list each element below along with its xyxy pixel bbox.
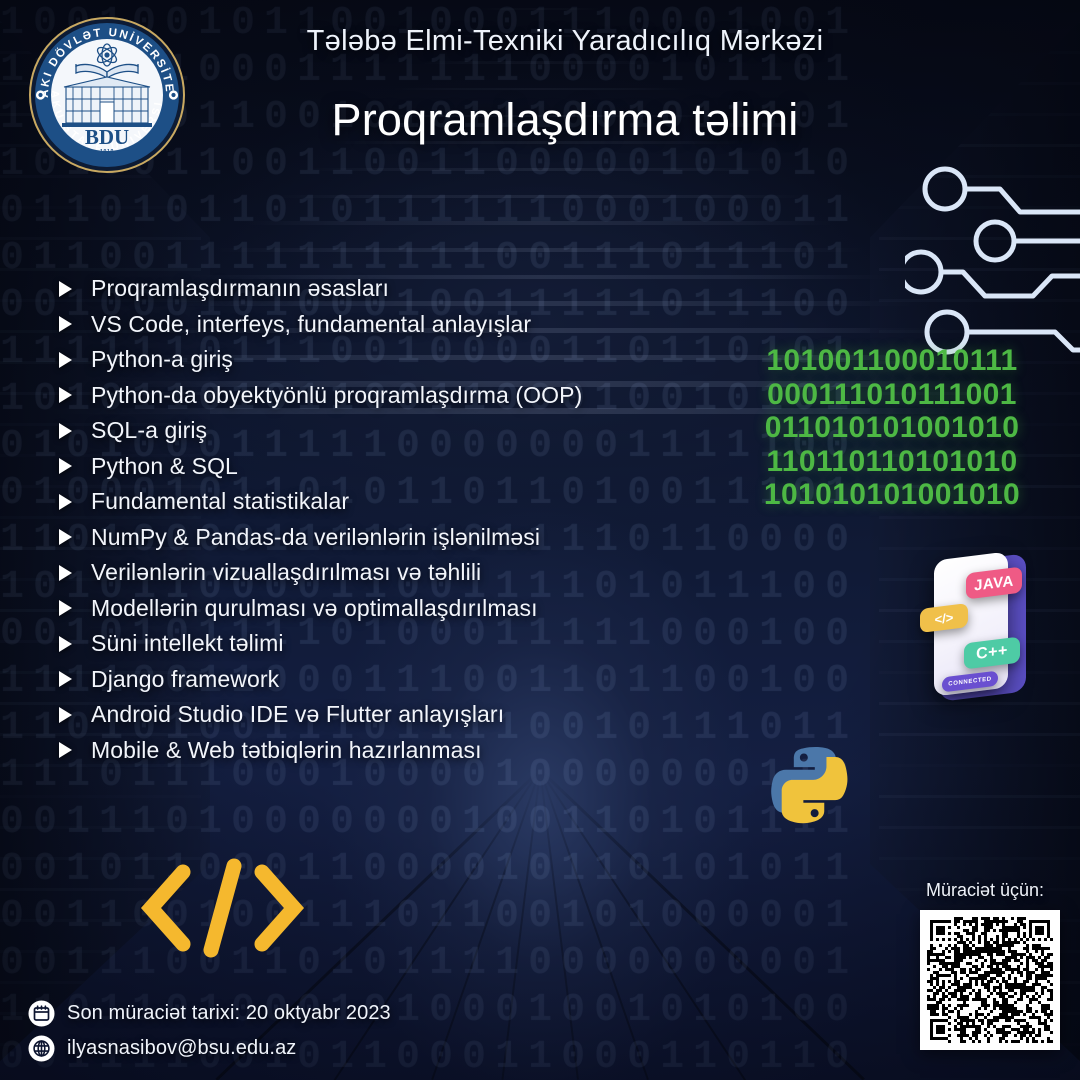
triangle-bullet-icon <box>55 456 91 476</box>
binary-row: 110110110101010 <box>753 445 1031 479</box>
topic-item: Python-a giriş <box>55 342 695 378</box>
triangle-bullet-icon <box>55 705 91 725</box>
university-seal-icon: BAKI DÖVLƏT UNİVERSİTETİ BAKU STATE UNIV… <box>26 14 188 176</box>
topic-item: Süni intellekt təlimi <box>55 626 695 662</box>
calendar-icon <box>28 1000 55 1027</box>
topic-label: SQL-a giriş <box>91 417 207 444</box>
topic-label: Modellərin qurulması və optimallaşdırılm… <box>91 595 538 622</box>
topic-label: Mobile & Web tətbiqlərin hazırlanması <box>91 737 482 764</box>
deadline-row: Son müraciət tarixi: 20 oktyabr 2023 <box>28 1000 391 1027</box>
topic-label: VS Code, interfeys, fundamental anlayışl… <box>91 311 531 338</box>
topic-label: Fundamental statistikalar <box>91 488 349 515</box>
topic-label: Django framework <box>91 666 279 693</box>
triangle-bullet-icon <box>55 563 91 583</box>
svg-text:1919: 1919 <box>100 149 114 155</box>
triangle-bullet-icon <box>55 492 91 512</box>
green-binary-block: 1010011000101110001110101110010110101010… <box>753 344 1031 512</box>
circuit-traces-icon <box>905 160 1080 355</box>
triangle-bullet-icon <box>55 314 91 334</box>
topic-label: Süni intellekt təlimi <box>91 630 284 657</box>
topic-label: Python & SQL <box>91 453 238 480</box>
topic-label: Verilənlərin vizuallaşdırılması və təhli… <box>91 559 481 586</box>
triangle-bullet-icon <box>55 740 91 760</box>
topic-item: Python-da obyektyönlü proqramlaşdırma (O… <box>55 378 695 414</box>
organization-name: Tələbə Elmi-Texniki Yaradıcılıq Mərkəzi <box>215 25 915 58</box>
contact-block: Son müraciət tarixi: 20 oktyabr 2023 ily… <box>28 1000 391 1062</box>
topic-item: Android Studio IDE və Flutter anlayışlar… <box>55 697 695 733</box>
topic-item: Python & SQL <box>55 449 695 485</box>
triangle-bullet-icon <box>55 385 91 405</box>
email-row[interactable]: ilyasnasibov@bsu.edu.az <box>28 1035 391 1062</box>
topic-label: NumPy & Pandas-da verilənlərin işlənilmə… <box>91 524 540 551</box>
topic-item: Modellərin qurulması və optimallaşdırılm… <box>55 591 695 627</box>
topic-label: Python-da obyektyönlü proqramlaşdırma (O… <box>91 382 582 409</box>
topic-label: Android Studio IDE və Flutter anlayışlar… <box>91 701 504 728</box>
deadline-text: Son müraciət tarixi: 20 oktyabr 2023 <box>67 1002 391 1025</box>
topic-item: Verilənlərin vizuallaşdırılması və təhli… <box>55 555 695 591</box>
topic-item: NumPy & Pandas-da verilənlərin işlənilmə… <box>55 520 695 556</box>
email-text: ilyasnasibov@bsu.edu.az <box>67 1037 296 1060</box>
triangle-bullet-icon <box>55 527 91 547</box>
python-logo-icon <box>762 742 860 840</box>
topic-item: Fundamental statistikalar <box>55 484 695 520</box>
topic-item: Mobile & Web tətbiqlərin hazırlanması <box>55 733 695 769</box>
topics-list: Proqramlaşdırmanın əsaslarıVS Code, inte… <box>55 271 695 768</box>
svg-text:BDU: BDU <box>85 125 129 149</box>
triangle-bullet-icon <box>55 279 91 299</box>
triangle-bullet-icon <box>55 634 91 654</box>
triangle-bullet-icon <box>55 598 91 618</box>
qr-label: Müraciət üçün: <box>900 880 1070 901</box>
topic-label: Python-a giriş <box>91 346 233 373</box>
topic-item: SQL-a giriş <box>55 413 695 449</box>
topic-item: Django framework <box>55 662 695 698</box>
code-bracket-icon <box>135 858 310 958</box>
qr-code-icon[interactable] <box>920 910 1060 1050</box>
binary-row: 101001100010111 <box>753 344 1031 378</box>
binary-row: 011010101001010 <box>753 411 1031 445</box>
triangle-bullet-icon <box>55 421 91 441</box>
binary-row: 000111010111001 <box>753 378 1031 412</box>
binary-row: 101010101001010 <box>753 478 1031 512</box>
poster-root: 10010010110010001110001001 1101010001111… <box>0 0 1080 1080</box>
smartphone-3d-icon: JAVA </> C++ CONNECTED <box>934 556 1034 702</box>
triangle-bullet-icon <box>55 669 91 689</box>
triangle-bullet-icon <box>55 350 91 370</box>
topic-item: Proqramlaşdırmanın əsasları <box>55 271 695 307</box>
page-title: Proqramlaşdırma təlimi <box>215 94 915 146</box>
topic-label: Proqramlaşdırmanın əsasları <box>91 275 389 302</box>
globe-icon <box>28 1035 55 1062</box>
topic-item: VS Code, interfeys, fundamental anlayışl… <box>55 307 695 343</box>
